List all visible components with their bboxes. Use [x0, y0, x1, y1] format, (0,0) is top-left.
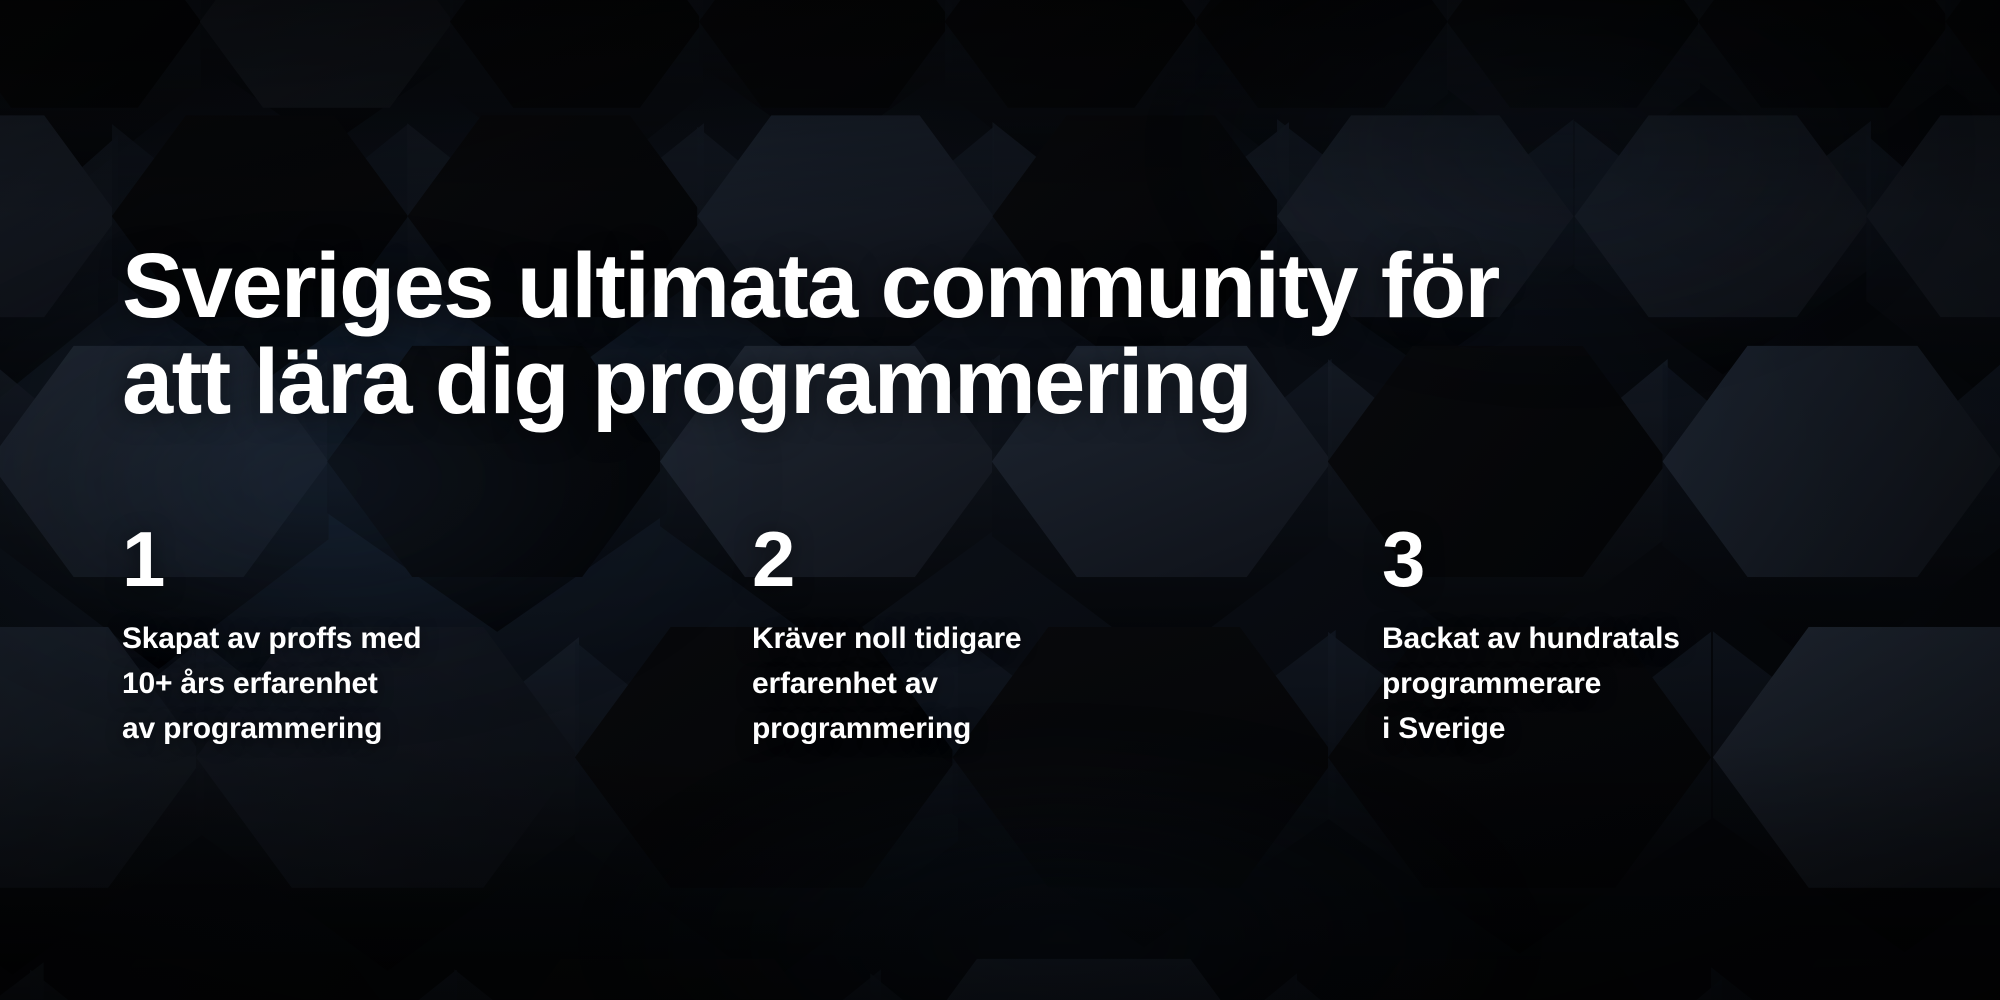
- feature-columns: 1 Skapat av proffs med 10+ års erfarenhe…: [122, 520, 1922, 751]
- feature-column-3: 3 Backat av hundratals programmerare i S…: [1382, 520, 2000, 751]
- feature-text-3: Backat av hundratals programmerare i Sve…: [1382, 616, 2000, 751]
- hero-content: Sveriges ultimata community för att lära…: [0, 0, 2000, 1000]
- feature-number-3: 3: [1382, 520, 2000, 616]
- page-title: Sveriges ultimata community för att lära…: [122, 238, 1882, 431]
- feature-column-2: 2 Kräver noll tidigare erfarenhet av pro…: [752, 520, 1382, 751]
- hero-slide: Sveriges ultimata community för att lära…: [0, 0, 2000, 1000]
- feature-number-1: 1: [122, 520, 752, 616]
- feature-column-1: 1 Skapat av proffs med 10+ års erfarenhe…: [122, 520, 752, 751]
- feature-number-2: 2: [752, 520, 1382, 616]
- feature-text-2: Kräver noll tidigare erfarenhet av progr…: [752, 616, 1382, 751]
- feature-text-1: Skapat av proffs med 10+ års erfarenhet …: [122, 616, 752, 751]
